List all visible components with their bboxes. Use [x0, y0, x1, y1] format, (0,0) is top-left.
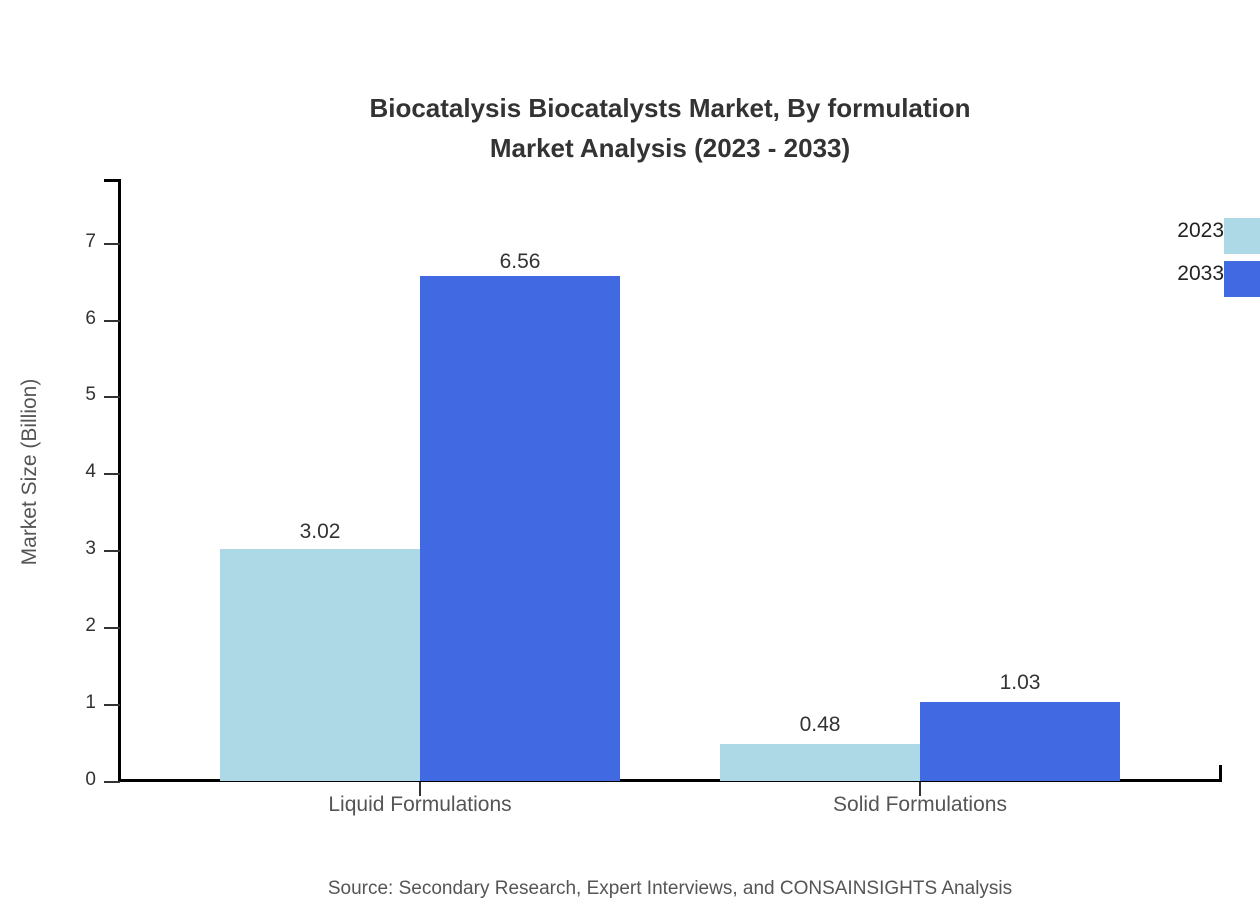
legend: 2023 2033 — [1110, 215, 1260, 301]
bar-value-liquid-2033: 6.56 — [440, 250, 600, 274]
y-tick-label-0: 0 — [56, 769, 96, 791]
y-tick-6 — [104, 320, 120, 322]
legend-item-2033[interactable]: 2033 — [1110, 258, 1260, 301]
legend-swatch-2023 — [1224, 218, 1260, 254]
y-tick-label-5: 5 — [56, 384, 96, 406]
y-tick-7 — [104, 243, 120, 245]
y-tick-2 — [104, 627, 120, 629]
legend-label-2023: 2023 — [1177, 219, 1224, 243]
y-tick-label-1: 1 — [56, 692, 96, 714]
y-tick-4 — [104, 473, 120, 475]
bar-solid-2033[interactable] — [920, 702, 1120, 781]
chart-title: Biocatalysis Biocatalysts Market, By for… — [0, 48, 1260, 208]
y-tick-label-2: 2 — [56, 615, 96, 637]
y-tick-label-6: 6 — [56, 308, 96, 330]
bar-value-solid-2023: 0.48 — [740, 713, 900, 737]
x-tick-label-liquid: Liquid Formulations — [220, 793, 620, 817]
y-tick-label-4: 4 — [56, 461, 96, 483]
x-axis-right-cap — [1219, 765, 1222, 782]
y-axis-top-cap — [104, 179, 121, 182]
source-note: Source: Secondary Research, Expert Inter… — [0, 878, 1260, 900]
x-tick-label-solid: Solid Formulations — [720, 793, 1120, 817]
y-tick-0 — [104, 781, 120, 783]
chart-title-line-2: Market Analysis (2023 - 2033) — [0, 128, 1260, 168]
y-tick-5 — [104, 396, 120, 398]
y-axis-spine — [118, 179, 121, 782]
bar-value-liquid-2023: 3.02 — [240, 520, 400, 544]
bar-liquid-2023[interactable] — [220, 549, 420, 781]
y-tick-label-3: 3 — [56, 538, 96, 560]
bar-liquid-2033[interactable] — [420, 276, 620, 781]
legend-label-2033: 2033 — [1177, 262, 1224, 286]
y-axis-title: Market Size (Billion) — [18, 192, 42, 752]
y-tick-1 — [104, 704, 120, 706]
legend-item-2023[interactable]: 2023 — [1110, 215, 1260, 258]
bar-chart-figure: Biocatalysis Biocatalysts Market, By for… — [0, 0, 1260, 920]
y-tick-3 — [104, 550, 120, 552]
chart-title-line-1: Biocatalysis Biocatalysts Market, By for… — [369, 93, 970, 123]
bar-solid-2023[interactable] — [720, 744, 920, 781]
bar-value-solid-2033: 1.03 — [940, 671, 1100, 695]
y-tick-label-7: 7 — [56, 231, 96, 253]
legend-swatch-2033 — [1224, 261, 1260, 297]
